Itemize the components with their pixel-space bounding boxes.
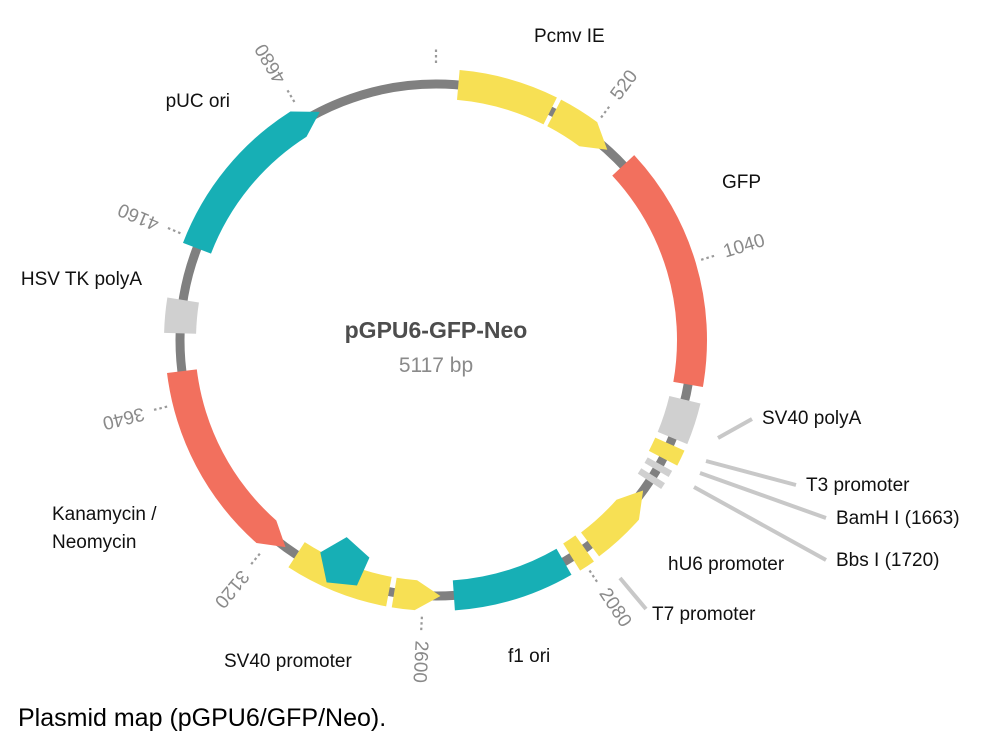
leader-line xyxy=(694,487,826,560)
feature-segment xyxy=(392,578,441,610)
feature-label: T7 promoter xyxy=(652,604,756,625)
tick-label: 1040 xyxy=(721,230,768,262)
tick-label: 520 xyxy=(607,66,643,104)
feature-label: Bbs I (1720) xyxy=(836,550,940,571)
plasmid-map-figure: 5201040208026003120364041604680 Pcmv IEG… xyxy=(0,0,982,700)
plasmid-name: pGPU6-GFP-Neo xyxy=(345,317,528,343)
feature-label: GFP xyxy=(722,172,761,193)
feature-label: pUC ori xyxy=(166,91,230,112)
feature-segment xyxy=(167,369,286,547)
figure-caption: Plasmid map (pGPU6/GFP/Neo). xyxy=(18,700,958,736)
tick-label: 4160 xyxy=(115,198,162,234)
feature-segment xyxy=(612,155,707,387)
feature-segment xyxy=(457,70,557,124)
tick-mark xyxy=(152,407,168,411)
feature-segment xyxy=(164,297,199,333)
tick-mark xyxy=(421,617,422,633)
feature-segment xyxy=(658,396,701,444)
feature-label: SV40 promoter xyxy=(224,651,352,672)
tick-label: 3120 xyxy=(210,566,253,612)
feature-label: Kanamycin / xyxy=(52,504,157,525)
tick-mark xyxy=(250,554,260,566)
feature-segment xyxy=(547,100,607,150)
feature-label: HSV TK polyA xyxy=(21,269,142,290)
feature-label: BamH I (1663) xyxy=(836,508,960,529)
tick-mark xyxy=(286,88,294,102)
leader-line xyxy=(718,419,752,438)
feature-label: f1 ori xyxy=(508,646,550,667)
feature-label: Neomycin xyxy=(52,532,136,553)
tick-label: 4680 xyxy=(251,40,291,87)
feature-label: T3 promoter xyxy=(806,475,910,496)
feature-label: hU6 promoter xyxy=(668,554,785,575)
tick-mark xyxy=(590,571,599,584)
feature-label: SV40 polyA xyxy=(762,408,862,429)
tick-mark xyxy=(166,227,181,233)
tick-label: 3640 xyxy=(100,403,146,434)
plasmid-map-page: 5201040208026003120364041604680 Pcmv IEG… xyxy=(0,0,982,744)
feature-label: Pcmv IE xyxy=(534,26,605,47)
feature-segment xyxy=(183,111,320,253)
plasmid-size: 5117 bp xyxy=(399,354,473,377)
tick-mark xyxy=(701,255,716,260)
tick-label: 2600 xyxy=(409,640,432,683)
feature-segment xyxy=(453,549,572,611)
tick-mark xyxy=(601,105,611,118)
